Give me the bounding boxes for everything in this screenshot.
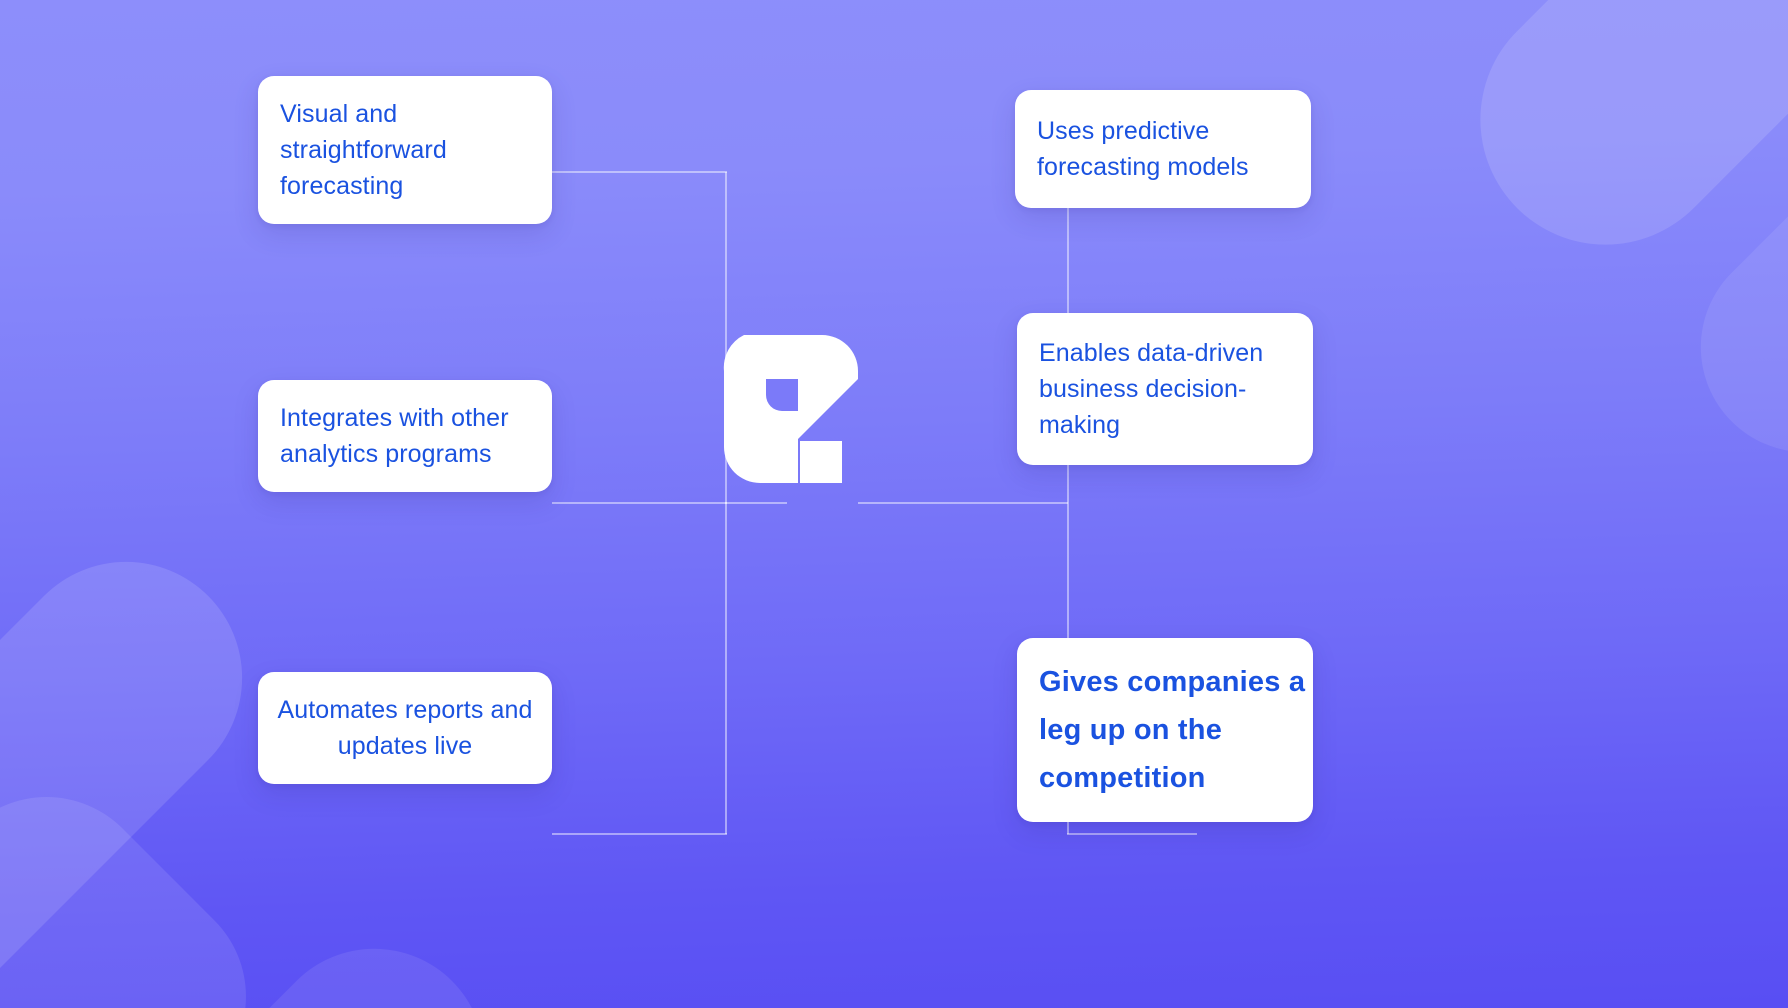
decorative-shape-top-right (1298, 0, 1788, 310)
mindmap-node-label: Integrates with other analytics programs (280, 400, 552, 472)
mindmap-node-right-2[interactable]: Enables data-driven business decision-ma… (1017, 313, 1313, 465)
mindmap-node-right-3[interactable]: Gives companies a leg up on the competit… (1017, 638, 1313, 822)
mindmap-node-label: Automates reports and updates live (276, 692, 534, 764)
decorative-bar (1657, 64, 1788, 495)
mindmap-node-label: Visual and straightforward forecasting (280, 96, 552, 204)
mindmap-node-right-1[interactable]: Uses predictive forecasting models (1015, 90, 1311, 208)
diagram-canvas: Visual and straightforward forecasting I… (0, 0, 1788, 1008)
decorative-bar (0, 514, 290, 1008)
decorative-bar (1429, 0, 1788, 296)
connector-right-branch-3 (1067, 833, 1197, 835)
mindmap-node-label: Gives companies a leg up on the competit… (1039, 658, 1313, 802)
decorative-bar (70, 903, 530, 1008)
mindmap-node-left-1[interactable]: Visual and straightforward forecasting (258, 76, 552, 224)
decorative-bar (0, 753, 290, 1008)
connector-left-branch-3 (552, 833, 727, 835)
connector-left-branch-2 (552, 502, 727, 504)
connector-left-trunk (725, 502, 787, 504)
brand-logo-icon (708, 335, 858, 483)
mindmap-node-label: Enables data-driven business decision-ma… (1039, 335, 1313, 443)
mindmap-node-left-2[interactable]: Integrates with other analytics programs (258, 380, 552, 492)
decorative-bar (1241, 0, 1619, 26)
mindmap-node-label: Uses predictive forecasting models (1037, 113, 1311, 185)
connector-right-trunk (858, 502, 1068, 504)
connector-left-branch-1 (552, 171, 727, 173)
mindmap-node-left-3[interactable]: Automates reports and updates live (258, 672, 552, 784)
